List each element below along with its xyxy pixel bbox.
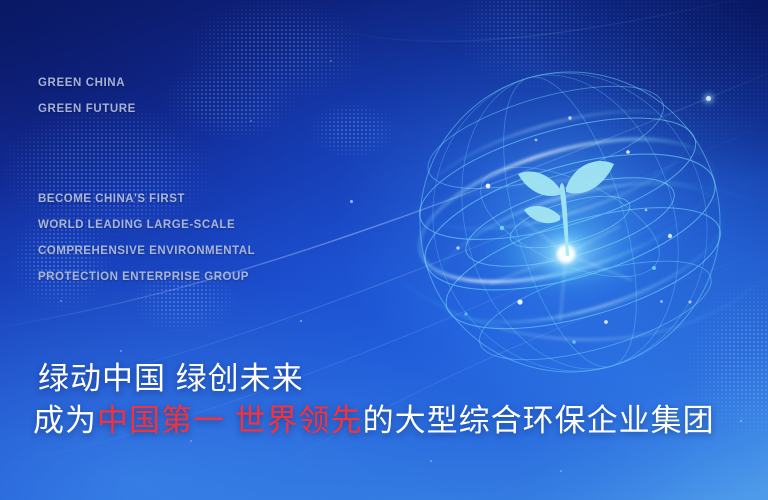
headline: 绿动中国 绿创未来 成为中国第一 世界领先的大型综合环保企业集团 — [30, 358, 715, 442]
claim-line-1: BECOME CHINA'S FIRST — [38, 186, 255, 212]
claim-text: BECOME CHINA'S FIRST WORLD LEADING LARGE… — [38, 186, 255, 290]
claim-line-4: PROTECTION ENTERPRISE GROUP — [38, 264, 255, 290]
headline-line-1: 绿动中国 绿创未来 — [30, 358, 715, 400]
claim-line-2: WORLD LEADING LARGE-SCALE — [38, 212, 255, 238]
headline-highlight: 中国第一 世界领先 — [97, 403, 363, 438]
hero-banner: GREEN CHINA GREEN FUTURE BECOME CHINA'S … — [0, 0, 768, 500]
claim-line-3: COMPREHENSIVE ENVIRONMENTAL — [38, 238, 255, 264]
headline-line-2: 成为中国第一 世界领先的大型综合环保企业集团 — [30, 400, 715, 442]
headline-suffix: 的大型综合环保企业集团 — [363, 403, 715, 438]
eyebrow-text: GREEN CHINA GREEN FUTURE — [38, 70, 136, 122]
eyebrow-line-2: GREEN FUTURE — [38, 96, 136, 122]
eyebrow-line-1: GREEN CHINA — [38, 70, 136, 96]
headline-prefix: 成为 — [33, 403, 97, 438]
